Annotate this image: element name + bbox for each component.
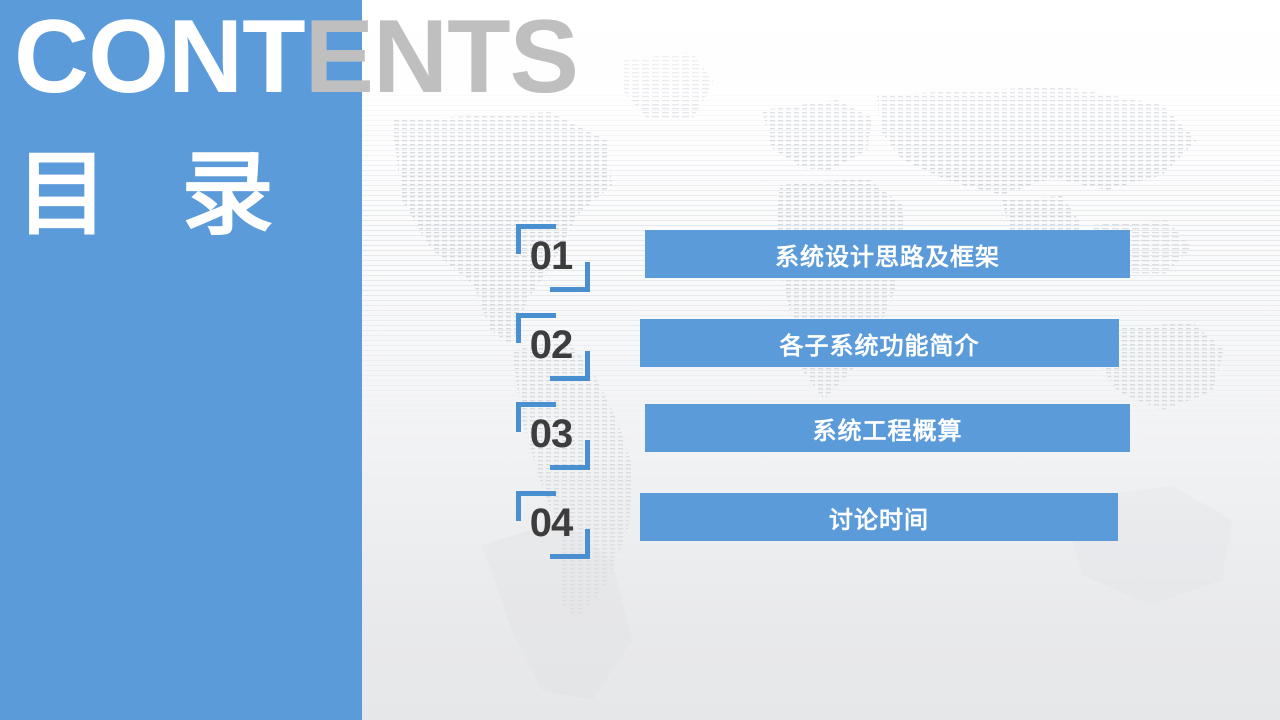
toc-bar-03[interactable]: 系统工程概算 [645, 404, 1130, 452]
table-of-contents: 01 系统设计思路及框架 02 各子系统功能简介 03 系统工程 [505, 214, 1145, 561]
toc-title-02: 各子系统功能简介 [780, 326, 980, 361]
wordmark-rest: ENTS [305, 0, 578, 115]
toc-item-04[interactable]: 04 讨论时间 [505, 481, 1145, 561]
toc-title-03: 系统工程概算 [813, 411, 963, 446]
toc-title-01: 系统设计思路及框架 [775, 237, 1000, 272]
toc-number-01: 01 [505, 232, 597, 280]
toc-bar-02[interactable]: 各子系统功能简介 [640, 319, 1119, 367]
toc-number-badge-02: 02 [505, 313, 597, 381]
toc-number-badge-04: 04 [505, 491, 597, 559]
toc-bar-01[interactable]: 系统设计思路及框架 [645, 230, 1130, 278]
toc-number-02: 02 [505, 321, 597, 369]
toc-number-badge-01: 01 [505, 224, 597, 292]
wordmark-highlight: CONT [14, 0, 305, 115]
toc-number-03: 03 [505, 410, 597, 458]
toc-title-04: 讨论时间 [829, 500, 929, 535]
toc-item-01[interactable]: 01 系统设计思路及框架 [505, 214, 1145, 303]
toc-number-04: 04 [505, 499, 597, 547]
toc-number-badge-03: 03 [505, 402, 597, 470]
contents-slide: CONTENTS 目 录 01 系统设计思路及框架 02 各子系统功能简介 [0, 0, 1280, 720]
page-title: CONTENTS [14, 0, 578, 116]
toc-item-02[interactable]: 02 各子系统功能简介 [505, 303, 1145, 392]
toc-item-03[interactable]: 03 系统工程概算 [505, 392, 1145, 481]
page-subtitle: 目 录 [16, 140, 298, 250]
toc-bar-04[interactable]: 讨论时间 [640, 493, 1118, 541]
